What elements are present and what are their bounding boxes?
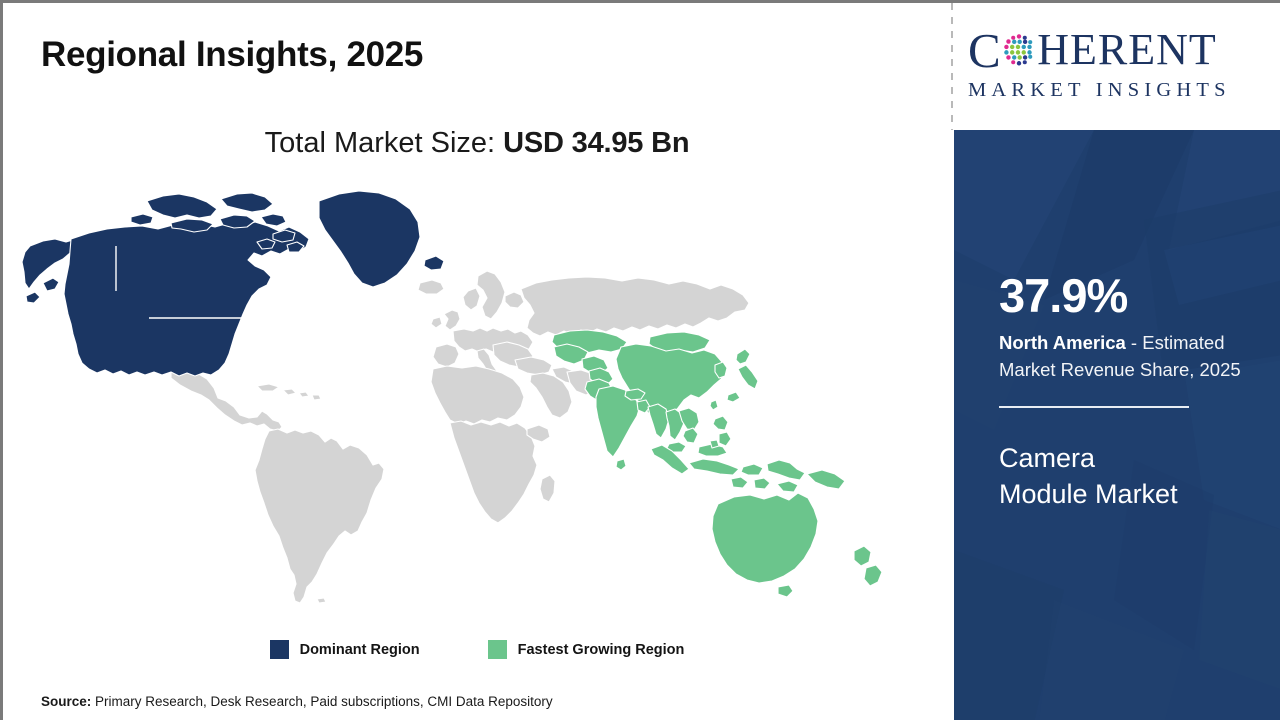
legend-item-dominant: Dominant Region — [270, 640, 420, 659]
stat-description: North America - Estimated Market Revenue… — [999, 330, 1249, 384]
map-panel: Regional Insights, 2025 Total Market Siz… — [3, 3, 951, 720]
stat-content: 37.9% North America - Estimated Market R… — [999, 272, 1249, 513]
map-region-dominant — [22, 191, 444, 376]
vertical-dashed-divider — [951, 3, 953, 130]
page-title: Regional Insights, 2025 — [41, 35, 423, 75]
map-region-inactive — [171, 271, 749, 603]
legend-swatch-dominant — [270, 640, 289, 659]
logo-word-rest: HERENT — [1037, 28, 1217, 72]
legend-swatch-fastest-growing — [488, 640, 507, 659]
logo-tagline: MARKET INSIGHTS — [968, 79, 1270, 102]
source-note: Source: Primary Research, Desk Research,… — [41, 694, 553, 709]
stat-region-name: North America — [999, 332, 1126, 353]
source-label: Source: — [41, 694, 91, 709]
stat-panel: 37.9% North America - Estimated Market R… — [954, 130, 1280, 720]
coherent-market-insights-logo: C — [968, 25, 1270, 102]
world-map — [21, 179, 921, 619]
legend-label-dominant: Dominant Region — [300, 642, 420, 658]
market-name-line-1: Camera — [999, 440, 1249, 476]
stat-divider-rule — [999, 406, 1189, 408]
market-name-line-2: Module Market — [999, 476, 1249, 512]
market-size-label: Total Market Size: — [265, 127, 504, 159]
market-size-value: USD 34.95 Bn — [503, 127, 689, 159]
stat-percent-value: 37.9% — [999, 272, 1249, 319]
logo-wordmark: C — [968, 25, 1270, 75]
logo-letter-c: C — [968, 26, 1001, 75]
legend-item-fastest-growing: Fastest Growing Region — [488, 640, 685, 659]
source-text: Primary Research, Desk Research, Paid su… — [91, 694, 552, 709]
legend-label-fastest-growing: Fastest Growing Region — [518, 642, 685, 658]
world-map-svg — [21, 179, 921, 619]
map-region-growth — [552, 330, 882, 597]
regional-insights-infographic: Regional Insights, 2025 Total Market Siz… — [0, 0, 1280, 720]
map-legend: Dominant Region Fastest Growing Region — [3, 640, 951, 659]
globe-dots-icon — [1002, 33, 1036, 67]
total-market-size: Total Market Size: USD 34.95 Bn — [3, 127, 951, 160]
logo-area: C — [954, 3, 1280, 130]
market-name: Camera Module Market — [999, 440, 1249, 513]
